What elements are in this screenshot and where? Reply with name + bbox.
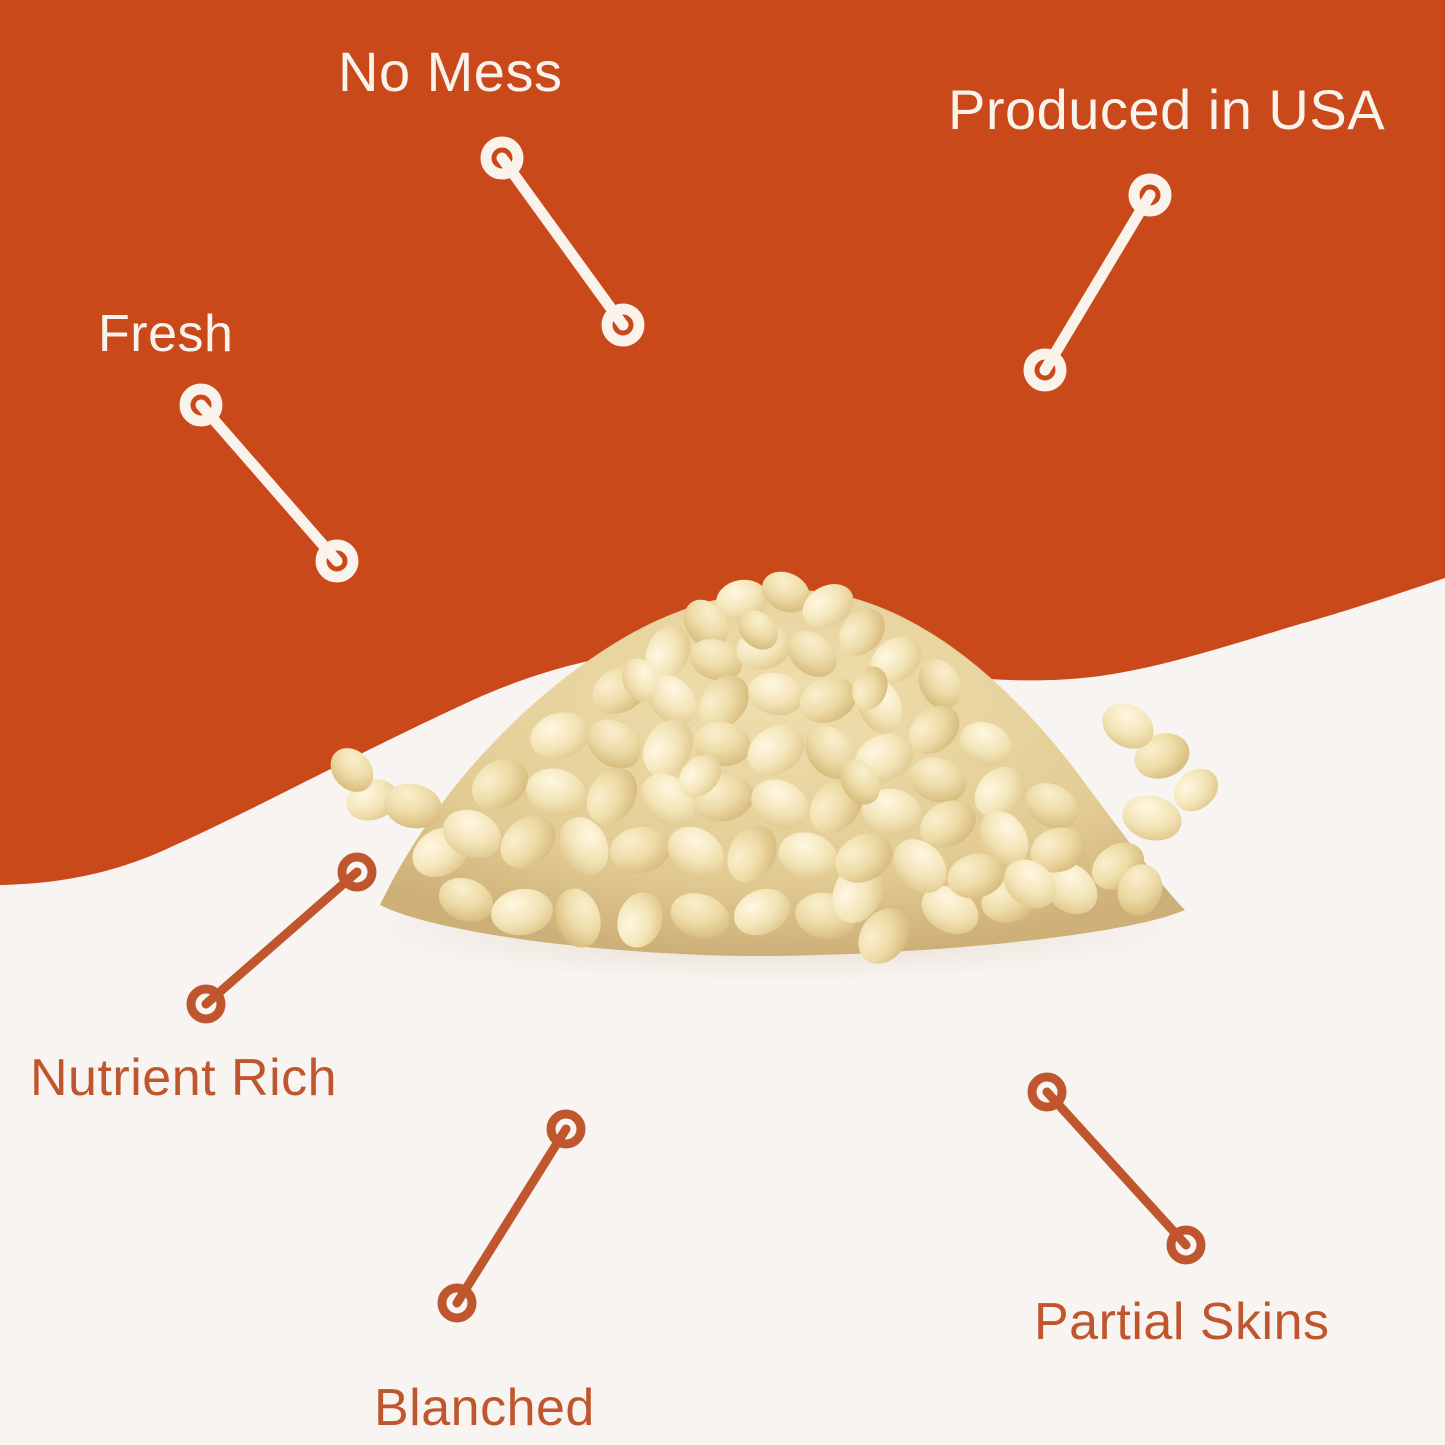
callout-label-nutrient-rich: Nutrient Rich <box>30 1052 337 1104</box>
callout-label-no-mess: No Mess <box>338 44 562 100</box>
callout-label-blanched: Blanched <box>374 1382 595 1434</box>
callout-partial-skins-connector[interactable] <box>1032 1077 1201 1260</box>
product-feature-infographic: Fresh No Mess Produced in USA Nutrient R… <box>0 0 1445 1445</box>
callout-blanched-connector[interactable] <box>442 1114 581 1318</box>
callout-produced-in-usa-connector[interactable] <box>1029 179 1166 386</box>
callout-label-fresh: Fresh <box>98 308 233 360</box>
callout-label-produced-in-usa: Produced in USA <box>948 82 1385 138</box>
callout-no-mess-connector[interactable] <box>486 142 639 341</box>
callout-nutrient-rich-connector[interactable] <box>191 857 372 1019</box>
callout-connectors <box>0 0 1445 1445</box>
callout-label-partial-skins: Partial Skins <box>1034 1296 1330 1348</box>
callout-fresh-connector[interactable] <box>185 389 353 577</box>
